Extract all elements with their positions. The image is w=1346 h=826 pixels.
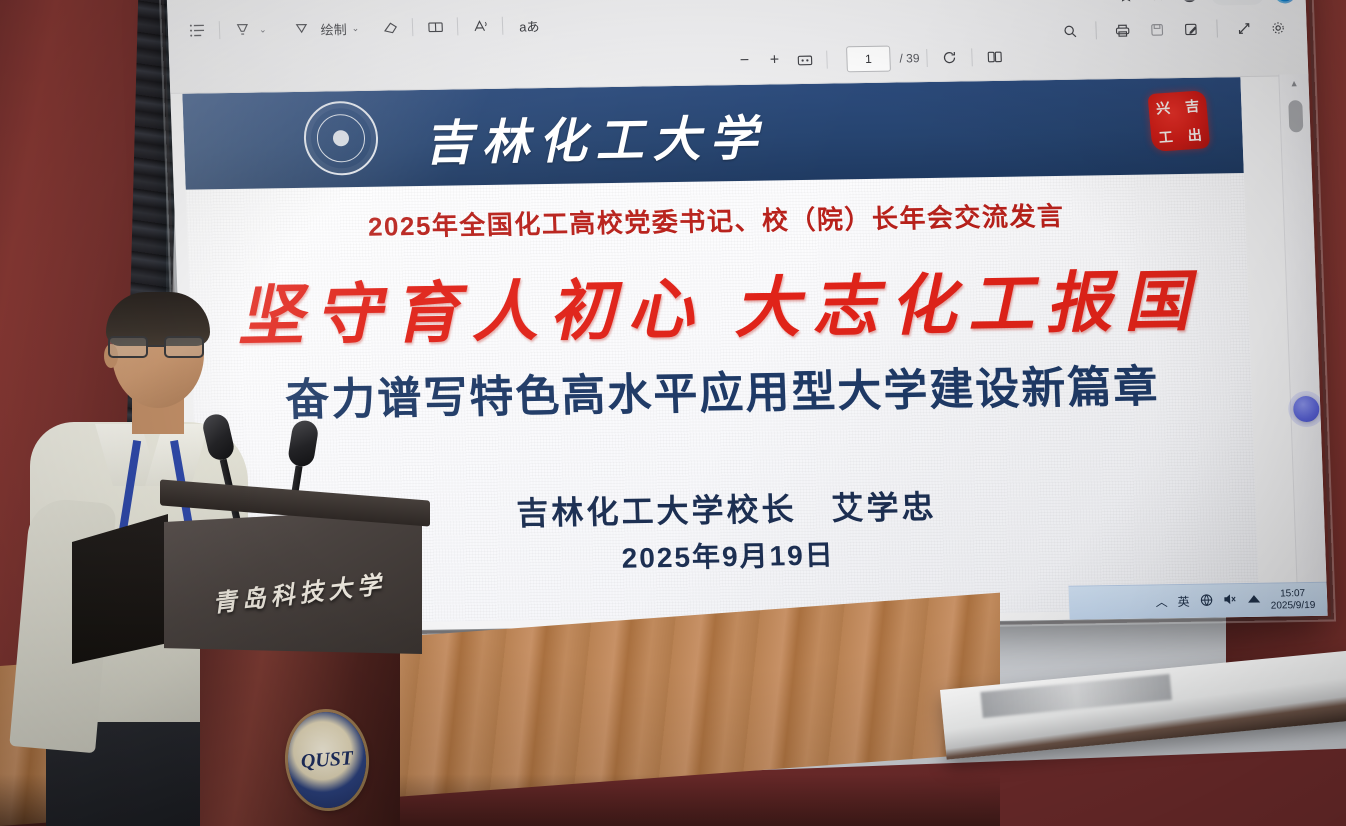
print-icon[interactable] (1107, 15, 1138, 45)
red-seal-stamp: 兴 吉 工 出 (1147, 90, 1210, 152)
chevron-down-icon[interactable]: ⌄ (257, 24, 269, 35)
toolbar-divider (1095, 21, 1097, 39)
eraser-icon[interactable] (375, 12, 406, 42)
toolbar-divider (971, 48, 973, 66)
star-icon[interactable] (1114, 0, 1137, 6)
chevron-down-icon[interactable]: ⌄ (349, 22, 361, 33)
ime-icon[interactable] (1199, 593, 1213, 609)
translate-icon[interactable]: aあ (510, 10, 548, 41)
glasses-bridge (148, 345, 164, 347)
toolbar-divider (219, 21, 221, 39)
pen-icon[interactable] (286, 14, 317, 44)
gear-icon[interactable] (1262, 12, 1293, 42)
slide-subtitle: 2025年全国化工高校党委书记、校（院）长年会交流发言 (186, 193, 1245, 247)
conference-presentation-photo: …sers/校办%20综合服务楼/Desktop/全国化工年会PPT/吉林化工大… (0, 0, 1346, 826)
save-icon[interactable] (1141, 14, 1172, 44)
taskbar-clock[interactable]: 15:07 2025/9/19 (1270, 588, 1315, 612)
stamp-char: 出 (1187, 124, 1203, 145)
total-pages-label: / 39 (899, 51, 920, 65)
network-icon[interactable] (1246, 593, 1261, 608)
zoom-out-button[interactable]: − (729, 47, 760, 75)
lectern-university-label: 青岛科技大学 (211, 564, 388, 618)
pdf-tools-bar (1054, 12, 1293, 46)
seal-inner-ring (316, 114, 366, 163)
scrollbar-thumb[interactable] (1288, 100, 1303, 132)
seal-center-dot (333, 130, 350, 146)
volume-muted-icon[interactable] (1222, 593, 1237, 608)
glasses-lens-left (108, 336, 148, 358)
slide-second-line: 奋力谱写特色高水平应用型大学建设新篇章 (192, 349, 1252, 430)
tray-chevron-icon[interactable]: ︿ (1155, 593, 1168, 610)
profile-avatar-icon[interactable] (1178, 0, 1201, 5)
slide-banner: 吉林化工大学 兴 吉 工 出 (182, 77, 1244, 190)
translate-label: aあ (515, 16, 543, 35)
rotate-icon[interactable] (934, 43, 965, 71)
toolbar-divider (1216, 19, 1218, 37)
stamp-char: 吉 (1184, 95, 1200, 116)
scroll-up-arrow[interactable]: ▲ (1289, 78, 1298, 88)
page-number-input[interactable]: 1 (846, 46, 891, 73)
update-button[interactable]: 更新 ··· (1210, 0, 1265, 6)
copilot-icon[interactable] (1274, 0, 1296, 3)
read-aloud-icon[interactable] (465, 11, 496, 41)
microphone-head (287, 419, 320, 469)
speaker-glasses (106, 336, 210, 358)
fullscreen-icon[interactable] (1228, 13, 1259, 43)
glasses-lens-right (164, 336, 204, 358)
text-box-icon[interactable] (420, 12, 451, 42)
toolbar-divider (457, 17, 459, 35)
annotate-icon[interactable] (1175, 14, 1206, 44)
zoom-in-button[interactable]: + (759, 46, 790, 74)
page-layout-icon[interactable] (979, 43, 1010, 71)
update-label: 更新 (1218, 0, 1241, 1)
draw-tool-label: 绘制 (316, 19, 350, 39)
search-icon[interactable] (1054, 16, 1085, 46)
toolbar-divider (926, 49, 928, 67)
fit-to-page-icon[interactable] (789, 46, 820, 74)
collections-icon[interactable] (1146, 0, 1169, 6)
clock-time: 15:07 (1270, 588, 1315, 600)
toolbar-divider (502, 17, 504, 35)
highlighter-icon[interactable] (227, 15, 258, 45)
lectern: 青岛科技大学 QUST (160, 490, 430, 826)
lectern-front-panel: 青岛科技大学 (164, 508, 422, 654)
windows-taskbar: ︿ 英 15:07 2025/9/19 (1068, 582, 1327, 620)
table-of-contents-icon[interactable] (182, 15, 213, 45)
toolbar-divider (826, 51, 828, 69)
toolbar-divider (412, 18, 414, 36)
stamp-char: 兴 (1155, 97, 1171, 118)
ime-label[interactable]: 英 (1177, 593, 1190, 610)
scroll-assist-icon[interactable] (1293, 396, 1320, 422)
university-name: 吉林化工大学 (423, 99, 768, 174)
clock-date: 2025/9/19 (1271, 599, 1316, 611)
stamp-char: 工 (1158, 126, 1174, 147)
university-seal-icon (303, 101, 380, 176)
slide-headline: 坚守育人初心 大志化工报国 (188, 247, 1250, 360)
